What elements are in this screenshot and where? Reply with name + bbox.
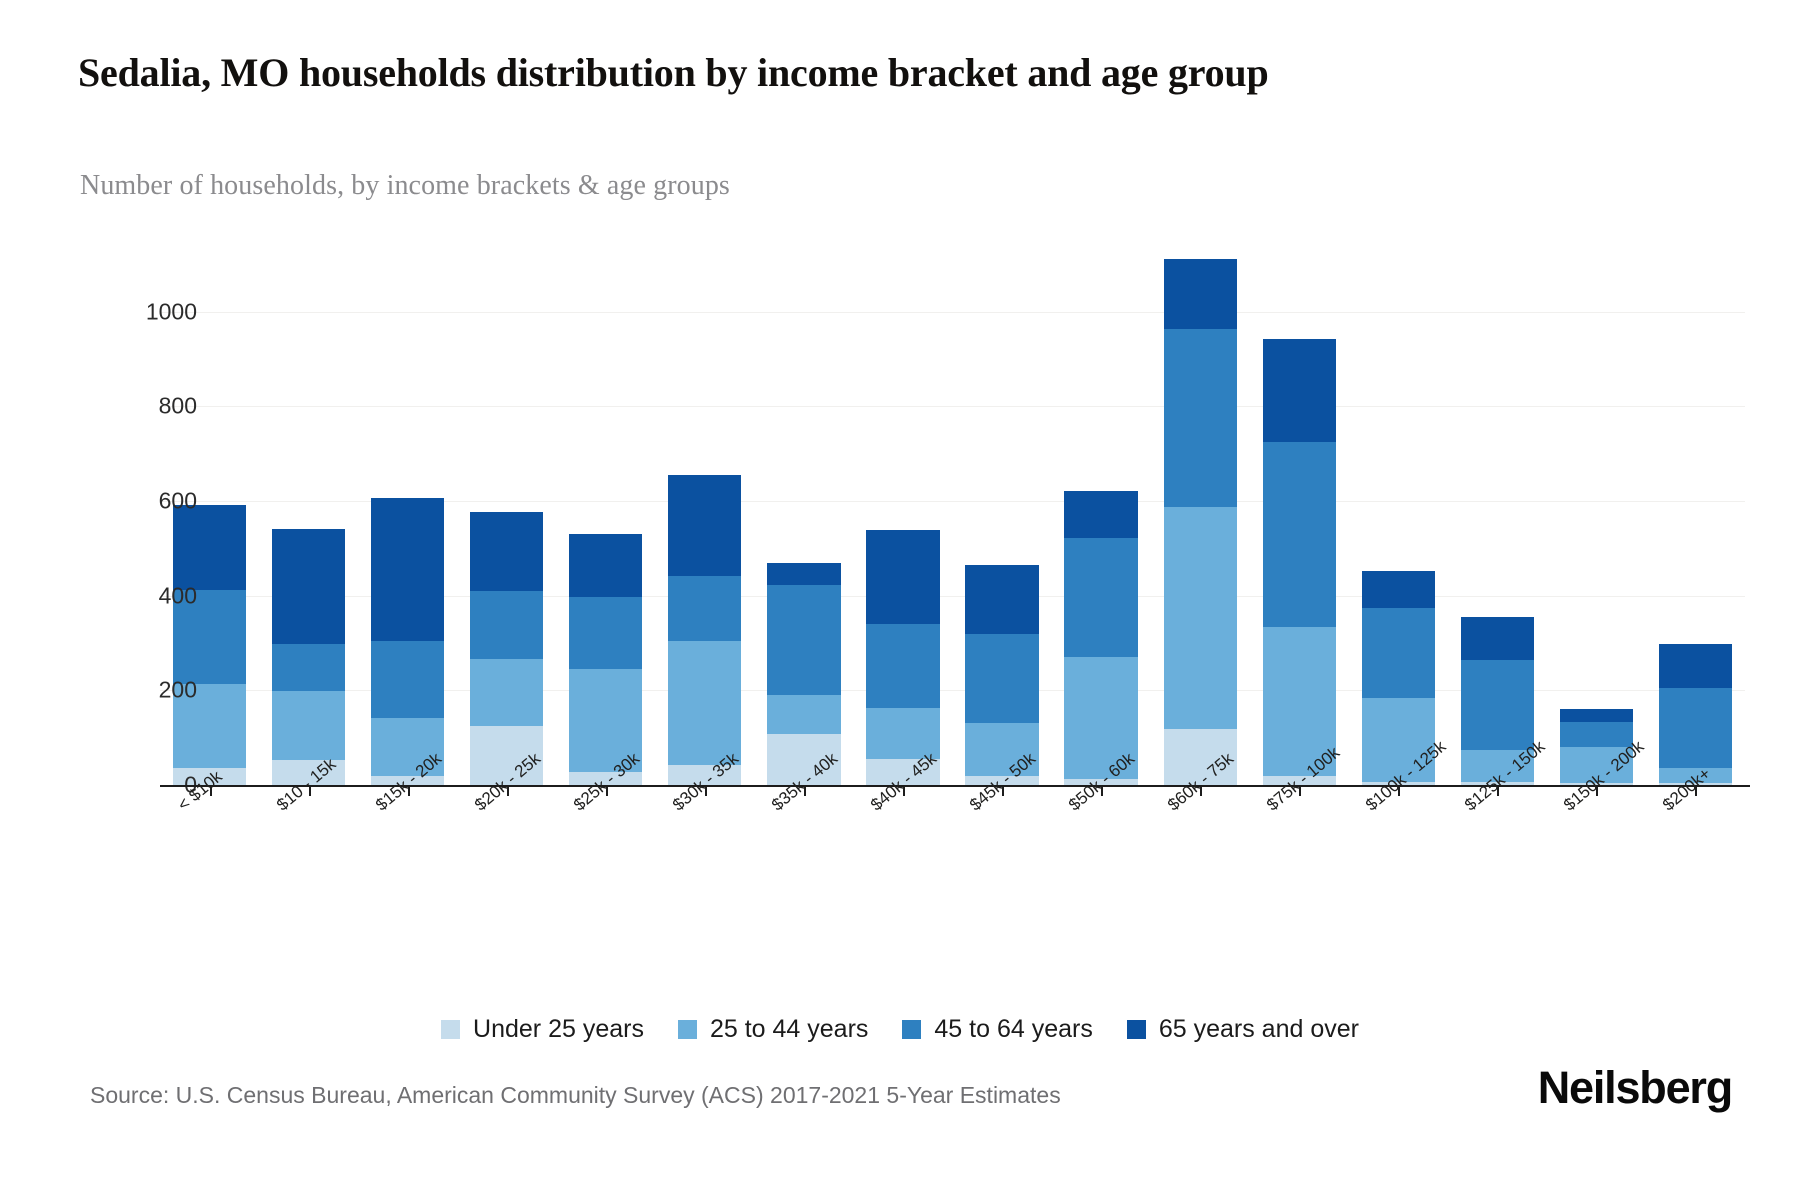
bar-segment[interactable] bbox=[1064, 491, 1137, 538]
bar-segment[interactable] bbox=[371, 641, 444, 718]
bar-stack[interactable] bbox=[965, 255, 1038, 785]
bar-segment[interactable] bbox=[866, 530, 939, 624]
bar-segment[interactable] bbox=[569, 597, 642, 668]
bar-segment[interactable] bbox=[1263, 339, 1336, 442]
y-axis-tick-label: 1000 bbox=[146, 298, 197, 325]
bar-stack[interactable] bbox=[1164, 255, 1237, 785]
bar-stack[interactable] bbox=[371, 255, 444, 785]
bar-segment[interactable] bbox=[965, 565, 1038, 634]
legend-item[interactable]: Under 25 years bbox=[441, 1015, 644, 1044]
chart-page: Sedalia, MO households distribution by i… bbox=[0, 0, 1800, 1200]
brand-logo: Neilsberg bbox=[1538, 1062, 1732, 1114]
bar-stack[interactable] bbox=[767, 255, 840, 785]
bar-segment[interactable] bbox=[1659, 644, 1732, 689]
bar-segment[interactable] bbox=[668, 576, 741, 641]
bar-segment[interactable] bbox=[272, 691, 345, 760]
bar-segment[interactable] bbox=[173, 505, 246, 590]
legend-swatch-icon bbox=[1127, 1020, 1146, 1039]
bar-segment[interactable] bbox=[668, 641, 741, 765]
page-title: Sedalia, MO households distribution by i… bbox=[78, 48, 1598, 98]
bar-segment[interactable] bbox=[272, 644, 345, 691]
y-axis-tick-label: 400 bbox=[159, 582, 197, 609]
legend-item[interactable]: 65 years and over bbox=[1127, 1015, 1359, 1044]
legend-label: 65 years and over bbox=[1159, 1015, 1359, 1044]
source-note: Source: U.S. Census Bureau, American Com… bbox=[90, 1082, 1061, 1109]
bar-segment[interactable] bbox=[1659, 688, 1732, 767]
bar-stack[interactable] bbox=[1560, 255, 1633, 785]
bar-segment[interactable] bbox=[272, 529, 345, 644]
bar-segment[interactable] bbox=[470, 591, 543, 660]
bar-segment[interactable] bbox=[1362, 571, 1435, 607]
bar-stack[interactable] bbox=[1461, 255, 1534, 785]
bar-segment[interactable] bbox=[470, 659, 543, 726]
bar-segment[interactable] bbox=[767, 695, 840, 734]
bar-segment[interactable] bbox=[1164, 329, 1237, 506]
y-axis-tick-label: 200 bbox=[159, 677, 197, 704]
bar-segment[interactable] bbox=[1362, 608, 1435, 698]
page-subtitle: Number of households, by income brackets… bbox=[80, 170, 730, 202]
bar-segment[interactable] bbox=[767, 585, 840, 695]
bar-segment[interactable] bbox=[371, 498, 444, 641]
bar-segment[interactable] bbox=[470, 512, 543, 591]
legend-label: 25 to 44 years bbox=[710, 1015, 868, 1044]
legend-swatch-icon bbox=[441, 1020, 460, 1039]
y-axis-tick-label: 600 bbox=[159, 488, 197, 515]
bar-segment[interactable] bbox=[1461, 617, 1534, 660]
bar-stack[interactable] bbox=[1263, 255, 1336, 785]
bar-segment[interactable] bbox=[1064, 538, 1137, 657]
bar-stack[interactable] bbox=[569, 255, 642, 785]
bar-group bbox=[160, 255, 1745, 785]
bar-stack[interactable] bbox=[1362, 255, 1435, 785]
bar-stack[interactable] bbox=[173, 255, 246, 785]
bar-segment[interactable] bbox=[569, 534, 642, 597]
bar-stack[interactable] bbox=[866, 255, 939, 785]
y-axis-tick-label: 800 bbox=[159, 393, 197, 420]
legend-label: 45 to 64 years bbox=[934, 1015, 1092, 1044]
chart-legend: Under 25 years25 to 44 years45 to 64 yea… bbox=[0, 1015, 1800, 1044]
bar-segment[interactable] bbox=[1164, 259, 1237, 329]
legend-swatch-icon bbox=[678, 1020, 697, 1039]
plot-area bbox=[160, 255, 1745, 785]
legend-swatch-icon bbox=[902, 1020, 921, 1039]
bar-stack[interactable] bbox=[1659, 255, 1732, 785]
bar-segment[interactable] bbox=[668, 475, 741, 577]
bar-segment[interactable] bbox=[1263, 442, 1336, 628]
bar-segment[interactable] bbox=[1164, 507, 1237, 729]
bar-segment[interactable] bbox=[965, 634, 1038, 723]
bar-segment[interactable] bbox=[1560, 709, 1633, 721]
bar-segment[interactable] bbox=[767, 563, 840, 586]
bar-segment[interactable] bbox=[1461, 660, 1534, 750]
bar-stack[interactable] bbox=[1064, 255, 1137, 785]
bar-stack[interactable] bbox=[272, 255, 345, 785]
bar-stack[interactable] bbox=[668, 255, 741, 785]
legend-label: Under 25 years bbox=[473, 1015, 644, 1044]
bar-stack[interactable] bbox=[470, 255, 543, 785]
legend-item[interactable]: 25 to 44 years bbox=[678, 1015, 868, 1044]
legend-item[interactable]: 45 to 64 years bbox=[902, 1015, 1092, 1044]
bar-segment[interactable] bbox=[1560, 722, 1633, 747]
bar-segment[interactable] bbox=[866, 624, 939, 708]
